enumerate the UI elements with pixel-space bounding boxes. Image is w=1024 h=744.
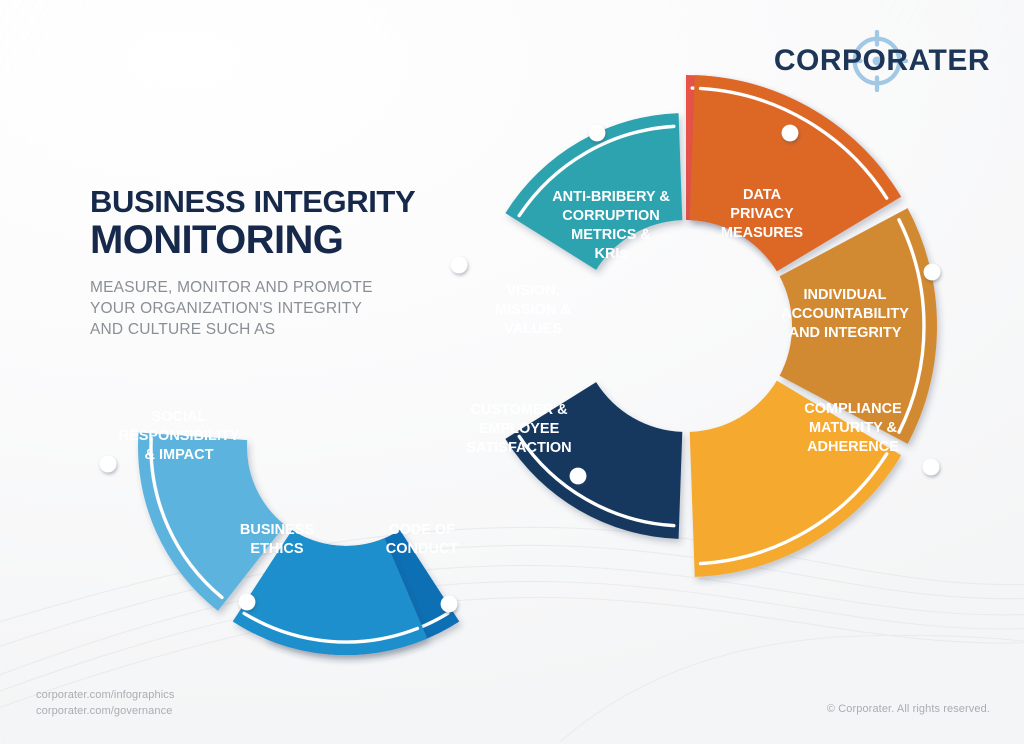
- footer-link-governance[interactable]: corporater.com/governance: [36, 704, 174, 720]
- segment-endpoint-dot-business-ethics[interactable]: [239, 594, 256, 611]
- wheel-segments: [138, 75, 937, 655]
- footer-links: corporater.com/infographics corporater.c…: [36, 688, 174, 720]
- segment-endpoint-dot-individual-accountability[interactable]: [924, 264, 941, 281]
- infographic-canvas: CORPORATER BUSINESS INTEGRITY MONITORING…: [0, 0, 1024, 744]
- segment-endpoint-dot-code-of-conduct[interactable]: [441, 596, 458, 613]
- footer-copyright: © Corporater. All rights reserved.: [827, 703, 990, 715]
- segment-endpoint-dot-compliance-maturity[interactable]: [923, 459, 940, 476]
- segment-endpoint-dot-social-responsibility[interactable]: [100, 456, 117, 473]
- footer-link-infographics[interactable]: corporater.com/infographics: [36, 688, 174, 704]
- segment-endpoint-dot-anti-bribery[interactable]: [589, 125, 606, 142]
- segment-label-compliance-maturity: COMPLIANCEMATURITY &ADHERENCE: [804, 401, 902, 455]
- business-integrity-wheel: ANTI-BRIBERY &CORRUPTIONMETRICS &KRIsDAT…: [0, 0, 1024, 744]
- segment-endpoint-dot-data-privacy[interactable]: [782, 125, 799, 142]
- segment-endpoint-dot-vision-mission-values[interactable]: [451, 257, 468, 274]
- segment-label-vision-mission-values: VISION,MISSION &VALUES: [495, 283, 571, 337]
- segment-endpoint-dot-customer-employee-satisfaction[interactable]: [570, 468, 587, 485]
- segment-label-customer-employee-satisfaction: CUSTOMER &EMPLOYEESATISFACTION: [466, 402, 571, 456]
